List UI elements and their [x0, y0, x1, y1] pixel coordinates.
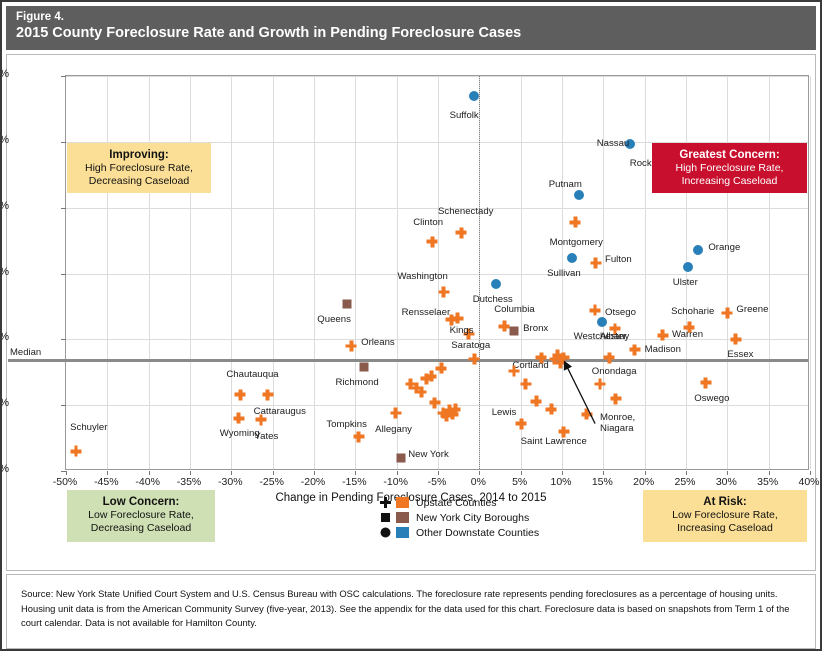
- x-axis-tick-label: -40%: [126, 476, 170, 488]
- x-tick-mark: [645, 471, 646, 475]
- data-point-label: Essex: [727, 349, 753, 360]
- data-point-label: Queens: [317, 314, 351, 325]
- legend-item-circle[interactable]: Other Downstate Counties: [379, 525, 539, 540]
- gridline-vertical: [355, 76, 356, 469]
- data-point-label: Rensselaer: [402, 307, 451, 318]
- quadrant-at-risk-line1: Low Foreclosure Rate,: [647, 509, 803, 522]
- x-axis-tick-label: -25%: [250, 476, 294, 488]
- data-point: [256, 414, 267, 425]
- data-point-label: Lewis: [492, 407, 517, 418]
- data-point: [683, 262, 693, 272]
- data-point: [693, 245, 703, 255]
- data-point-label: Onondaga: [592, 366, 637, 377]
- y-tick-mark: [61, 471, 66, 472]
- x-tick-mark: [107, 471, 108, 475]
- data-point-label: Kings: [450, 325, 474, 336]
- quadrant-at-risk-line2: Increasing Caseload: [647, 522, 803, 535]
- data-point: [359, 362, 368, 371]
- data-point: [450, 404, 461, 415]
- figure-title: 2015 County Foreclosure Rate and Growth …: [16, 24, 806, 43]
- x-tick-mark: [810, 471, 811, 475]
- data-point-label: Chautauqua: [226, 369, 278, 380]
- data-point: [730, 334, 741, 345]
- gridline-vertical: [107, 76, 108, 469]
- data-point-label: Allegany: [375, 424, 412, 435]
- data-point-label: Suffolk: [450, 110, 479, 121]
- x-axis-tick-label: 10%: [539, 476, 583, 488]
- monroe-niagara-callout-label: Monroe,Niagara: [600, 412, 635, 434]
- x-tick-mark: [603, 471, 604, 475]
- gridline-vertical: [727, 76, 728, 469]
- quadrant-greatest-concern: Greatest Concern: High Foreclosure Rate,…: [652, 143, 807, 193]
- data-point: [558, 352, 569, 363]
- quadrant-improving-heading: Improving:: [71, 148, 207, 162]
- data-point: [343, 299, 352, 308]
- data-point: [531, 396, 542, 407]
- x-axis-tick-label: 40%: [787, 476, 822, 488]
- median-line-label: Median: [10, 347, 41, 358]
- data-point: [346, 340, 357, 351]
- quadrant-low-concern: Low Concern: Low Foreclosure Rate, Decre…: [67, 490, 215, 542]
- data-point: [427, 236, 438, 247]
- x-axis-tick-label: -15%: [332, 476, 376, 488]
- data-point: [590, 257, 601, 268]
- data-point-label: Clinton: [413, 217, 443, 228]
- gridline-vertical: [769, 76, 770, 469]
- x-tick-mark: [562, 471, 563, 475]
- data-point-label: Saratoga: [451, 340, 490, 351]
- quadrant-greatest-concern-heading: Greatest Concern:: [656, 148, 803, 162]
- y-axis-tick-label: 0.5%: [0, 397, 9, 409]
- data-point-label: New York: [408, 449, 449, 460]
- gridline-vertical: [686, 76, 687, 469]
- y-tick-mark: [61, 405, 66, 406]
- quadrant-improving-line2: Decreasing Caseload: [71, 175, 207, 188]
- data-point-label: Schenectady: [438, 206, 493, 217]
- y-tick-mark: [61, 339, 66, 340]
- data-point: [429, 397, 440, 408]
- gridline-vertical: [190, 76, 191, 469]
- y-axis-tick-label: 1.0%: [0, 331, 9, 343]
- data-point: [390, 408, 401, 419]
- data-point-label: Washington: [397, 271, 447, 282]
- quadrant-improving-line1: High Foreclosure Rate,: [71, 162, 207, 175]
- data-point: [574, 190, 584, 200]
- plot-area: MedianSchuylerChautauquaWyomingCattaraug…: [65, 75, 809, 470]
- data-point: [516, 418, 527, 429]
- data-point: [235, 389, 246, 400]
- figure-container: Figure 4. 2015 County Foreclosure Rate a…: [0, 0, 822, 651]
- data-point: [657, 330, 668, 341]
- x-axis-tick-label: 0%: [456, 476, 500, 488]
- y-axis-tick-label: 1.5%: [0, 266, 9, 278]
- data-point: [510, 327, 519, 336]
- x-tick-mark: [521, 471, 522, 475]
- quadrant-low-concern-heading: Low Concern:: [71, 495, 211, 509]
- legend-item-label: Upstate Counties: [416, 497, 497, 509]
- quadrant-greatest-concern-line1: High Foreclosure Rate,: [656, 162, 803, 175]
- data-point: [546, 404, 557, 415]
- gridline-horizontal: [66, 76, 808, 77]
- data-point: [684, 322, 695, 333]
- data-point-label: Columbia: [494, 304, 535, 315]
- x-axis-tick-label: -30%: [208, 476, 252, 488]
- x-axis-tick-label: -10%: [374, 476, 418, 488]
- data-point: [520, 379, 531, 390]
- data-point: [436, 363, 447, 374]
- y-axis-tick-label: 2.0%: [0, 200, 9, 212]
- data-point-label: Schoharie: [671, 306, 714, 317]
- data-point: [416, 387, 427, 398]
- data-point-label: Greene: [736, 304, 768, 315]
- median-reference-line: [8, 359, 808, 362]
- data-point: [469, 91, 479, 101]
- x-tick-mark: [438, 471, 439, 475]
- chart-legend: Upstate CountiesNew York City BoroughsOt…: [379, 495, 539, 540]
- data-point-label: Westchester: [574, 331, 627, 342]
- x-axis-tick-label: -5%: [415, 476, 459, 488]
- data-point: [590, 305, 601, 316]
- gridline-vertical: [521, 76, 522, 469]
- gridline-vertical: [149, 76, 150, 469]
- data-point: [499, 321, 510, 332]
- x-axis-tick-label: 5%: [498, 476, 542, 488]
- quadrant-greatest-concern-line2: Increasing Caseload: [656, 175, 803, 188]
- y-tick-mark: [61, 76, 66, 77]
- data-point-label: Putnam: [549, 179, 582, 190]
- y-tick-mark: [61, 208, 66, 209]
- data-point-label: Oswego: [694, 393, 729, 404]
- zero-reference-line: [479, 76, 480, 469]
- data-point-label: Tompkins: [326, 419, 367, 430]
- quadrant-at-risk-heading: At Risk:: [647, 495, 803, 509]
- x-tick-mark: [769, 471, 770, 475]
- x-axis-tick-label: -50%: [43, 476, 87, 488]
- data-point: [456, 227, 467, 238]
- data-point-label: Yates: [254, 431, 278, 442]
- data-point-label: Fulton: [605, 254, 632, 265]
- data-point: [262, 389, 273, 400]
- data-point: [570, 217, 581, 228]
- data-point: [629, 344, 640, 355]
- data-point-label: Sullivan: [547, 268, 581, 279]
- data-point: [438, 286, 449, 297]
- y-tick-mark: [61, 142, 66, 143]
- quadrant-low-concern-line1: Low Foreclosure Rate,: [71, 509, 211, 522]
- legend-color-swatch: [396, 497, 409, 508]
- x-tick-mark: [686, 471, 687, 475]
- x-tick-mark: [479, 471, 480, 475]
- x-tick-mark: [397, 471, 398, 475]
- gridline-vertical: [645, 76, 646, 469]
- x-tick-mark: [273, 471, 274, 475]
- data-point-label: Montgomery: [550, 237, 603, 248]
- gridline-vertical: [314, 76, 315, 469]
- x-axis-tick-label: -45%: [84, 476, 128, 488]
- x-tick-mark: [231, 471, 232, 475]
- data-point-label: Schuyler: [70, 422, 107, 433]
- gridline-vertical: [603, 76, 604, 469]
- x-axis-tick-label: 35%: [746, 476, 790, 488]
- data-point: [70, 446, 81, 457]
- y-axis-tick-label: 3.0%: [0, 68, 9, 80]
- source-note: Source: New York State Unified Court Sys…: [6, 574, 816, 649]
- legend-item-label: New York City Boroughs: [416, 512, 529, 524]
- data-point: [567, 253, 577, 263]
- data-point-label: Ulster: [673, 277, 698, 288]
- data-point-label: Bronx: [523, 323, 548, 334]
- legend-color-swatch: [396, 512, 409, 523]
- legend-item-cross[interactable]: Upstate Counties: [379, 495, 539, 510]
- quadrant-at-risk: At Risk: Low Foreclosure Rate, Increasin…: [643, 490, 807, 542]
- data-point-label: Orange: [708, 242, 740, 253]
- x-tick-mark: [355, 471, 356, 475]
- cross-marker-icon: [379, 497, 392, 508]
- data-point: [610, 393, 621, 404]
- quadrant-low-concern-line2: Decreasing Caseload: [71, 522, 211, 535]
- data-point-label: Saint Lawrence: [521, 436, 587, 447]
- x-axis-tick-label: -35%: [167, 476, 211, 488]
- data-point: [581, 409, 592, 420]
- data-point: [722, 308, 733, 319]
- x-axis-tick-label: -20%: [291, 476, 335, 488]
- data-point-label: Richmond: [335, 377, 378, 388]
- data-point: [491, 279, 501, 289]
- gridline-horizontal: [66, 208, 808, 209]
- gridline-vertical: [231, 76, 232, 469]
- data-point: [452, 313, 463, 324]
- source-text: Source: New York State Unified Court Sys…: [21, 588, 789, 628]
- y-axis-tick-label: 2.5%: [0, 134, 9, 146]
- legend-item-label: Other Downstate Counties: [416, 527, 539, 539]
- y-tick-mark: [61, 274, 66, 275]
- data-point: [353, 431, 364, 442]
- data-point-label: Dutchess: [473, 294, 513, 305]
- data-point: [469, 354, 480, 365]
- x-tick-mark: [149, 471, 150, 475]
- data-point: [509, 365, 520, 376]
- square-marker-icon: [379, 512, 392, 523]
- x-tick-mark: [314, 471, 315, 475]
- data-point-label: Otsego: [605, 307, 636, 318]
- quadrant-improving: Improving: High Foreclosure Rate, Decrea…: [67, 143, 211, 193]
- x-axis-tick-label: 30%: [704, 476, 748, 488]
- legend-item-square[interactable]: New York City Boroughs: [379, 510, 539, 525]
- callout-line2: Niagara: [600, 423, 634, 434]
- callout-line1: Monroe,: [600, 412, 635, 423]
- data-point-label: Madison: [645, 344, 681, 355]
- chart-panel: Foreclosure Rate, 2015 MedianSchuylerCha…: [6, 54, 816, 571]
- figure-header: Figure 4. 2015 County Foreclosure Rate a…: [6, 6, 816, 50]
- x-axis-tick-label: 25%: [663, 476, 707, 488]
- data-point: [233, 413, 244, 424]
- data-point-label: Nassau: [597, 138, 630, 149]
- figure-number: Figure 4.: [16, 10, 806, 24]
- y-axis-tick-label: 0.0%: [0, 463, 9, 475]
- data-point: [396, 453, 405, 462]
- data-point: [700, 377, 711, 388]
- data-point-label: Orleans: [361, 337, 395, 348]
- x-axis-tick-label: 15%: [580, 476, 624, 488]
- circle-marker-icon: [379, 527, 392, 538]
- data-point: [597, 317, 607, 327]
- x-tick-mark: [190, 471, 191, 475]
- data-point: [604, 352, 615, 363]
- data-point: [595, 379, 606, 390]
- gridline-vertical: [810, 76, 811, 469]
- legend-color-swatch: [396, 527, 409, 538]
- x-tick-mark: [66, 471, 67, 475]
- x-tick-mark: [727, 471, 728, 475]
- x-axis-tick-label: 20%: [622, 476, 666, 488]
